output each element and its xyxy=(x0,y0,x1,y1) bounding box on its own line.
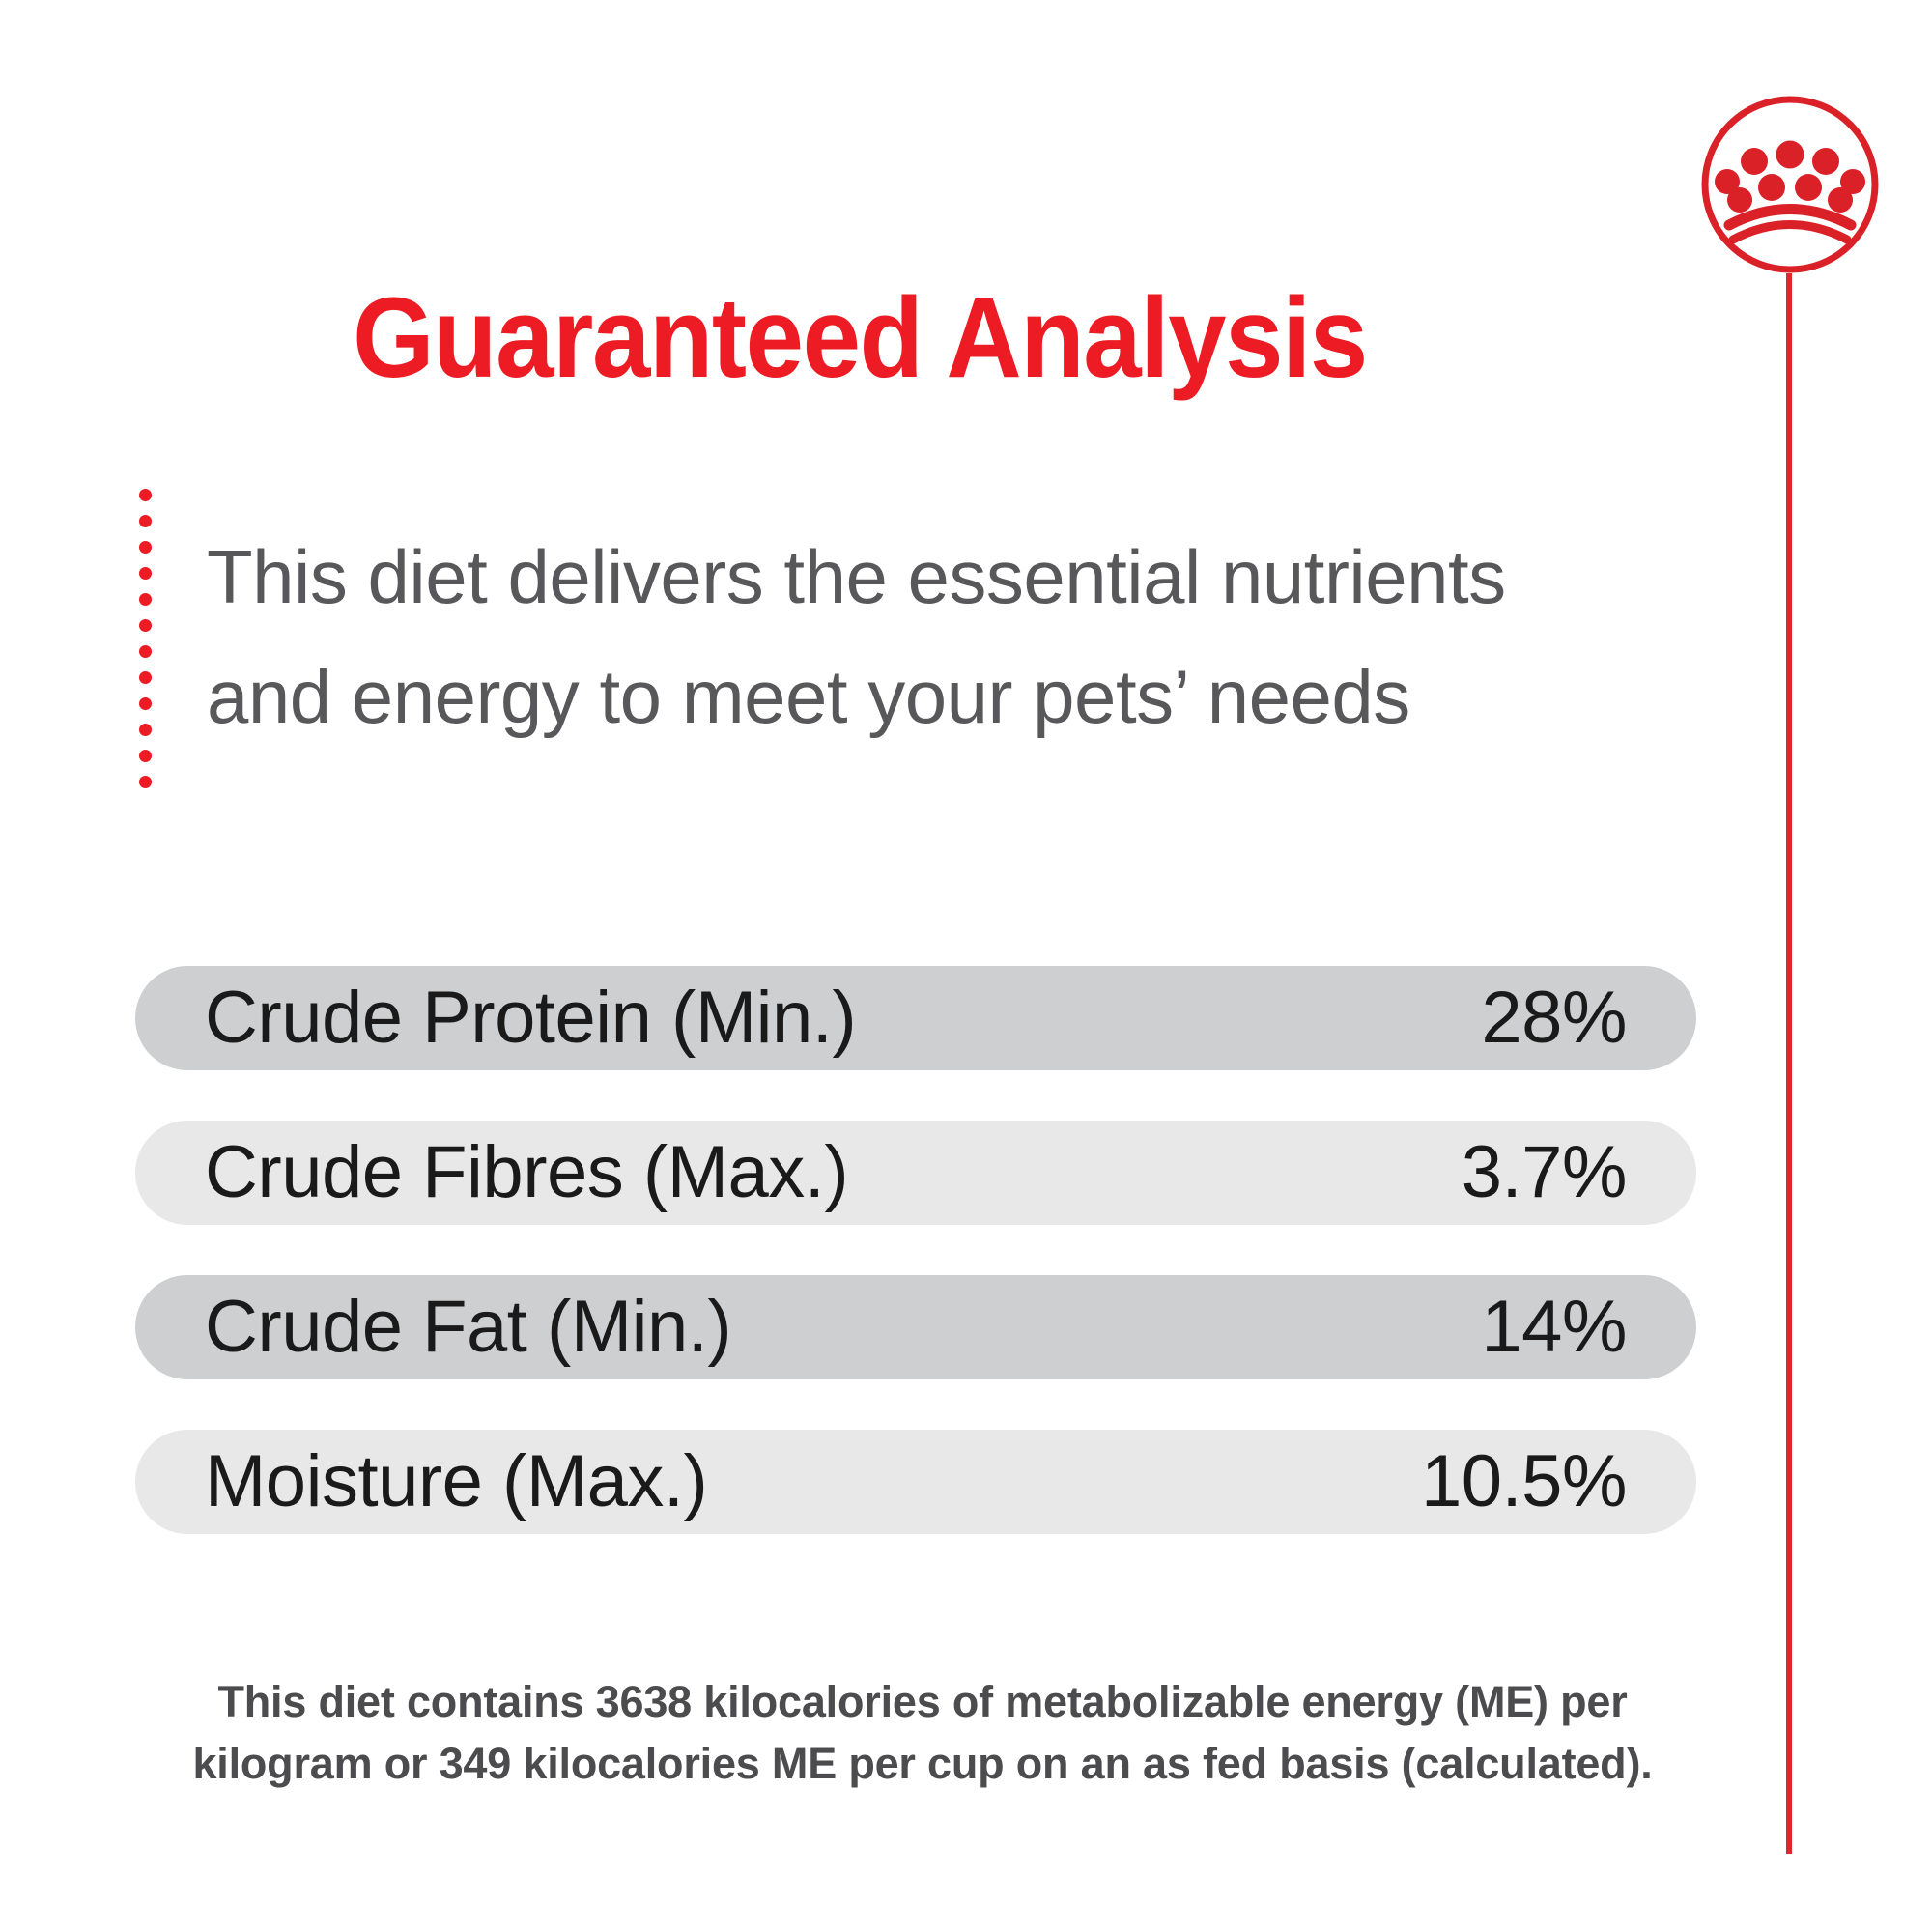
energy-footnote: This diet contains 3638 kilocalories of … xyxy=(145,1671,1700,1795)
accent-dot xyxy=(139,567,152,580)
dotted-accent-rule xyxy=(139,489,153,779)
nutrient-row-moisture: Moisture (Max.) 10.5% xyxy=(135,1430,1696,1534)
nutrient-label: Crude Protein (Min.) xyxy=(205,980,856,1057)
footnote-line-2: kilogram or 349 kilocalories ME per cup … xyxy=(145,1733,1700,1795)
footnote-line-1: This diet contains 3638 kilocalories of … xyxy=(145,1671,1700,1733)
accent-dot xyxy=(139,645,152,658)
nutrient-label: Crude Fibres (Max.) xyxy=(205,1134,848,1211)
royal-canin-crown-icon xyxy=(1698,93,1882,276)
accent-dot xyxy=(139,697,152,710)
accent-dot xyxy=(139,724,152,736)
nutrient-row-crude-protein: Crude Protein (Min.) 28% xyxy=(135,966,1696,1070)
intro-paragraph: This diet delivers the essential nutrien… xyxy=(207,517,1694,756)
nutrient-value: 14% xyxy=(1481,1289,1627,1366)
nutrient-label: Moisture (Max.) xyxy=(205,1443,707,1520)
nutrient-table: Crude Protein (Min.) 28% Crude Fibres (M… xyxy=(135,966,1696,1584)
accent-dot xyxy=(139,515,152,527)
nutrient-row-crude-fat: Crude Fat (Min.) 14% xyxy=(135,1275,1696,1379)
accent-dot xyxy=(139,489,152,501)
nutrient-value: 10.5% xyxy=(1421,1443,1627,1520)
nutrient-label: Crude Fat (Min.) xyxy=(205,1289,731,1366)
accent-dot xyxy=(139,750,152,762)
intro-line-2: and energy to meet your pets’ needs xyxy=(207,637,1694,756)
accent-dot xyxy=(139,619,152,632)
accent-dot xyxy=(139,541,152,554)
accent-dot xyxy=(139,593,152,606)
guaranteed-analysis-panel: Guaranteed Analysis This diet delivers t… xyxy=(0,0,1932,1932)
accent-dot xyxy=(139,671,152,684)
page-title: Guaranteed Analysis xyxy=(122,277,1597,399)
nutrient-row-crude-fibres: Crude Fibres (Max.) 3.7% xyxy=(135,1121,1696,1225)
nutrient-value: 3.7% xyxy=(1462,1134,1627,1211)
accent-dot xyxy=(139,776,152,788)
vertical-red-rule xyxy=(1786,273,1792,1854)
intro-line-1: This diet delivers the essential nutrien… xyxy=(207,517,1694,637)
nutrient-value: 28% xyxy=(1481,980,1627,1057)
